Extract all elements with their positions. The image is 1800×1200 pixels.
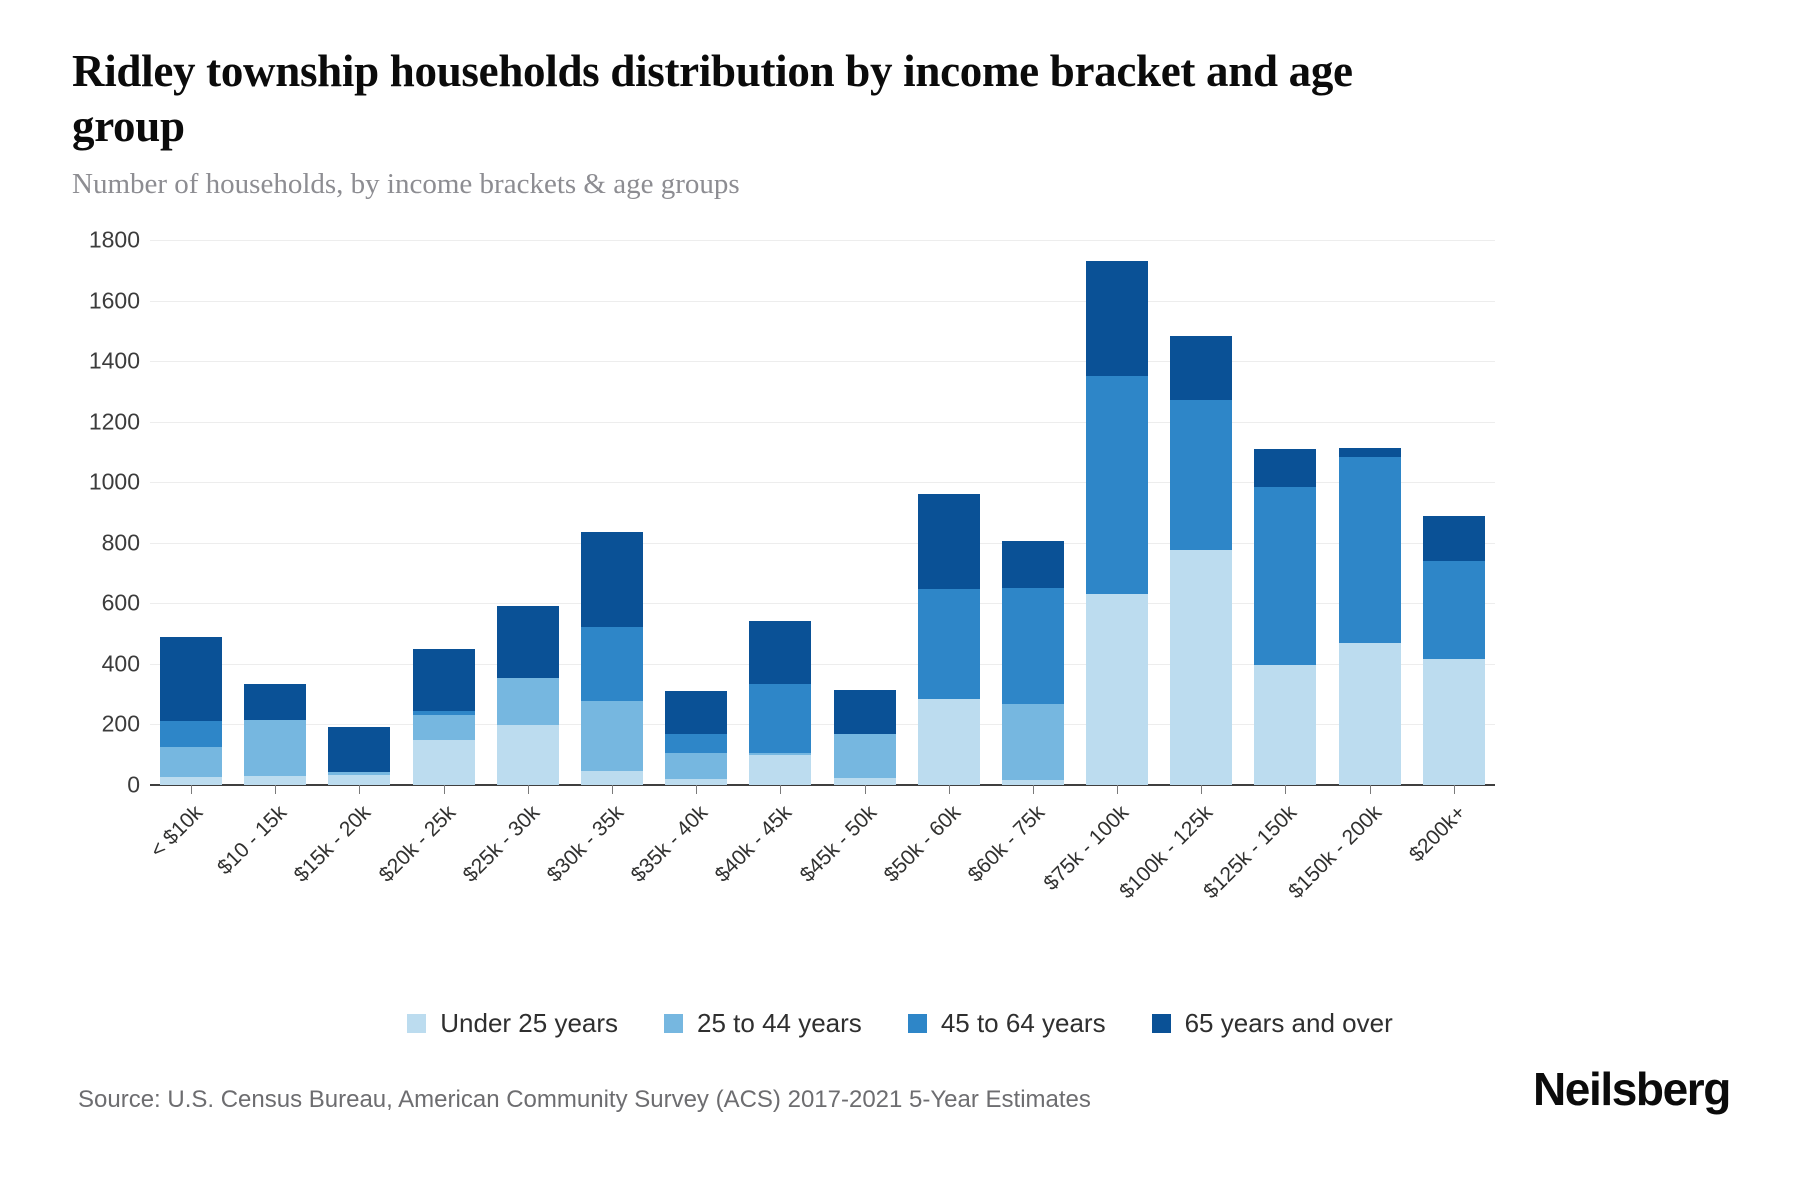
bar-segment[interactable] bbox=[160, 777, 222, 785]
legend-swatch-icon bbox=[664, 1014, 683, 1033]
x-axis-tick-mark bbox=[528, 785, 529, 794]
x-axis-tick-mark bbox=[1201, 785, 1202, 794]
bar-segment[interactable] bbox=[918, 699, 980, 785]
x-axis-tick-label: $25k - 30k bbox=[458, 801, 544, 887]
bar-segment[interactable] bbox=[1002, 588, 1064, 705]
legend-item[interactable]: 45 to 64 years bbox=[908, 1008, 1106, 1039]
bar-segment[interactable] bbox=[918, 494, 980, 588]
bar-segment[interactable] bbox=[1339, 448, 1401, 456]
chart-page: Ridley township households distribution … bbox=[0, 0, 1800, 1200]
bar-segment[interactable] bbox=[413, 740, 475, 785]
x-axis-tick-mark bbox=[444, 785, 445, 794]
chart-subtitle: Number of households, by income brackets… bbox=[72, 168, 1732, 201]
x-axis-tick-mark bbox=[865, 785, 866, 794]
bar-segment[interactable] bbox=[581, 627, 643, 701]
bar-segment[interactable] bbox=[749, 755, 811, 785]
x-axis-tick-mark bbox=[1285, 785, 1286, 794]
y-axis-tick-label: 600 bbox=[50, 590, 140, 617]
bar-segment[interactable] bbox=[1423, 516, 1485, 561]
bar-segment[interactable] bbox=[918, 589, 980, 699]
bar-segment[interactable] bbox=[497, 678, 559, 725]
legend-item-label: 45 to 64 years bbox=[941, 1008, 1106, 1039]
x-axis-tick-mark bbox=[191, 785, 192, 794]
y-axis-tick-label: 200 bbox=[50, 711, 140, 738]
bar-series-container: < $10k$10 - 15k$15k - 20k$20k - 25k$25k … bbox=[150, 240, 1495, 785]
chart-legend: Under 25 years25 to 44 years45 to 64 yea… bbox=[0, 1008, 1800, 1039]
bar-segment[interactable] bbox=[244, 720, 306, 776]
bar-segment[interactable] bbox=[1423, 659, 1485, 785]
bar-segment[interactable] bbox=[581, 701, 643, 771]
y-axis-tick-label: 0 bbox=[50, 772, 140, 799]
y-axis-tick-label: 800 bbox=[50, 529, 140, 556]
bar-segment[interactable] bbox=[160, 721, 222, 747]
bar-group[interactable]: $100k - 125k bbox=[1170, 336, 1232, 785]
bar-segment[interactable] bbox=[834, 778, 896, 785]
bar-segment[interactable] bbox=[1254, 665, 1316, 786]
x-axis-tick-mark bbox=[612, 785, 613, 794]
bar-segment[interactable] bbox=[328, 775, 390, 785]
y-axis-tick-label: 1800 bbox=[50, 227, 140, 254]
x-axis-tick-mark bbox=[1370, 785, 1371, 794]
bar-segment[interactable] bbox=[834, 734, 896, 778]
x-axis-tick-mark bbox=[1117, 785, 1118, 794]
bar-segment[interactable] bbox=[413, 715, 475, 739]
y-axis-tick-label: 400 bbox=[50, 650, 140, 677]
chart-header: Ridley township households distribution … bbox=[72, 44, 1732, 201]
bar-group[interactable]: $30k - 35k bbox=[581, 532, 643, 785]
x-axis-tick-label: $10 - 15k bbox=[213, 801, 292, 880]
bar-group[interactable]: < $10k bbox=[160, 637, 222, 785]
source-note: Source: U.S. Census Bureau, American Com… bbox=[78, 1086, 1091, 1114]
x-axis-tick-mark bbox=[949, 785, 950, 794]
x-axis-tick-label: < $10k bbox=[146, 801, 208, 863]
x-axis-tick-label: $60k - 75k bbox=[964, 801, 1050, 887]
bar-segment[interactable] bbox=[1423, 561, 1485, 659]
bar-segment[interactable] bbox=[497, 606, 559, 678]
legend-swatch-icon bbox=[407, 1014, 426, 1033]
bar-group[interactable]: $75k - 100k bbox=[1086, 261, 1148, 785]
y-axis-tick-label: 1000 bbox=[50, 469, 140, 496]
legend-item-label: Under 25 years bbox=[440, 1008, 618, 1039]
x-axis-tick-label: $20k - 25k bbox=[374, 801, 460, 887]
x-axis-tick-mark bbox=[275, 785, 276, 794]
bar-segment[interactable] bbox=[1002, 541, 1064, 588]
bar-segment[interactable] bbox=[1086, 594, 1148, 785]
bar-segment[interactable] bbox=[1254, 487, 1316, 664]
legend-swatch-icon bbox=[1152, 1014, 1171, 1033]
legend-item[interactable]: 65 years and over bbox=[1152, 1008, 1393, 1039]
x-axis-tick-label: $40k - 45k bbox=[711, 801, 797, 887]
y-axis-tick-label: 1200 bbox=[50, 408, 140, 435]
bar-group[interactable]: $200k+ bbox=[1423, 516, 1485, 785]
bar-group[interactable]: $150k - 200k bbox=[1339, 448, 1401, 785]
x-axis-tick-label: $45k - 50k bbox=[795, 801, 881, 887]
legend-item-label: 65 years and over bbox=[1185, 1008, 1393, 1039]
bar-group[interactable]: $50k - 60k bbox=[918, 494, 980, 785]
bar-segment[interactable] bbox=[665, 734, 727, 754]
bar-group[interactable]: $20k - 25k bbox=[413, 649, 475, 785]
x-axis-tick-label: $15k - 20k bbox=[290, 801, 376, 887]
bar-group[interactable]: $60k - 75k bbox=[1002, 541, 1064, 785]
bar-segment[interactable] bbox=[665, 691, 727, 733]
x-axis-tick-mark bbox=[780, 785, 781, 794]
bar-segment[interactable] bbox=[1339, 457, 1401, 643]
bar-segment[interactable] bbox=[1170, 400, 1232, 550]
x-axis-tick-label: $30k - 35k bbox=[543, 801, 629, 887]
x-axis-tick-label: $35k - 40k bbox=[627, 801, 713, 887]
bar-group[interactable]: $15k - 20k bbox=[328, 727, 390, 785]
bar-segment[interactable] bbox=[1002, 704, 1064, 779]
x-axis-tick-mark bbox=[1454, 785, 1455, 794]
x-axis-tick-label: $50k - 60k bbox=[879, 801, 965, 887]
y-axis-tick-label: 1600 bbox=[50, 287, 140, 314]
bar-segment[interactable] bbox=[581, 771, 643, 785]
bar-group[interactable]: $35k - 40k bbox=[665, 691, 727, 785]
bar-segment[interactable] bbox=[160, 747, 222, 777]
bar-segment[interactable] bbox=[581, 532, 643, 627]
bar-group[interactable]: $10 - 15k bbox=[244, 684, 306, 785]
legend-item-label: 25 to 44 years bbox=[697, 1008, 862, 1039]
bar-segment[interactable] bbox=[834, 690, 896, 735]
x-axis-tick-label: $200k+ bbox=[1405, 801, 1471, 867]
bar-segment[interactable] bbox=[1339, 643, 1401, 785]
x-axis-tick-mark bbox=[696, 785, 697, 794]
bar-segment[interactable] bbox=[665, 753, 727, 779]
page-title: Ridley township households distribution … bbox=[72, 44, 1472, 154]
bar-segment[interactable] bbox=[160, 637, 222, 722]
bar-segment[interactable] bbox=[413, 649, 475, 711]
bar-segment[interactable] bbox=[1086, 261, 1148, 376]
brand-logo: Neilsberg bbox=[1533, 1062, 1730, 1116]
bar-segment[interactable] bbox=[1254, 449, 1316, 488]
bar-segment[interactable] bbox=[328, 727, 390, 772]
bar-segment[interactable] bbox=[1170, 336, 1232, 400]
bar-segment[interactable] bbox=[749, 684, 811, 754]
bar-segment[interactable] bbox=[244, 684, 306, 720]
bar-segment[interactable] bbox=[749, 621, 811, 684]
x-axis-tick-mark bbox=[1033, 785, 1034, 794]
x-axis-tick-mark bbox=[359, 785, 360, 794]
plot-area: 020040060080010001200140016001800 < $10k… bbox=[150, 240, 1495, 785]
legend-item[interactable]: Under 25 years bbox=[407, 1008, 618, 1039]
bar-group[interactable]: $25k - 30k bbox=[497, 606, 559, 785]
bar-group[interactable]: $45k - 50k bbox=[834, 690, 896, 785]
bar-segment[interactable] bbox=[1170, 550, 1232, 785]
bar-group[interactable]: $125k - 150k bbox=[1254, 449, 1316, 785]
legend-swatch-icon bbox=[908, 1014, 927, 1033]
bar-segment[interactable] bbox=[497, 725, 559, 785]
y-axis-tick-label: 1400 bbox=[50, 348, 140, 375]
legend-item[interactable]: 25 to 44 years bbox=[664, 1008, 862, 1039]
bar-segment[interactable] bbox=[244, 776, 306, 785]
bar-group[interactable]: $40k - 45k bbox=[749, 621, 811, 785]
bar-segment[interactable] bbox=[1086, 376, 1148, 594]
